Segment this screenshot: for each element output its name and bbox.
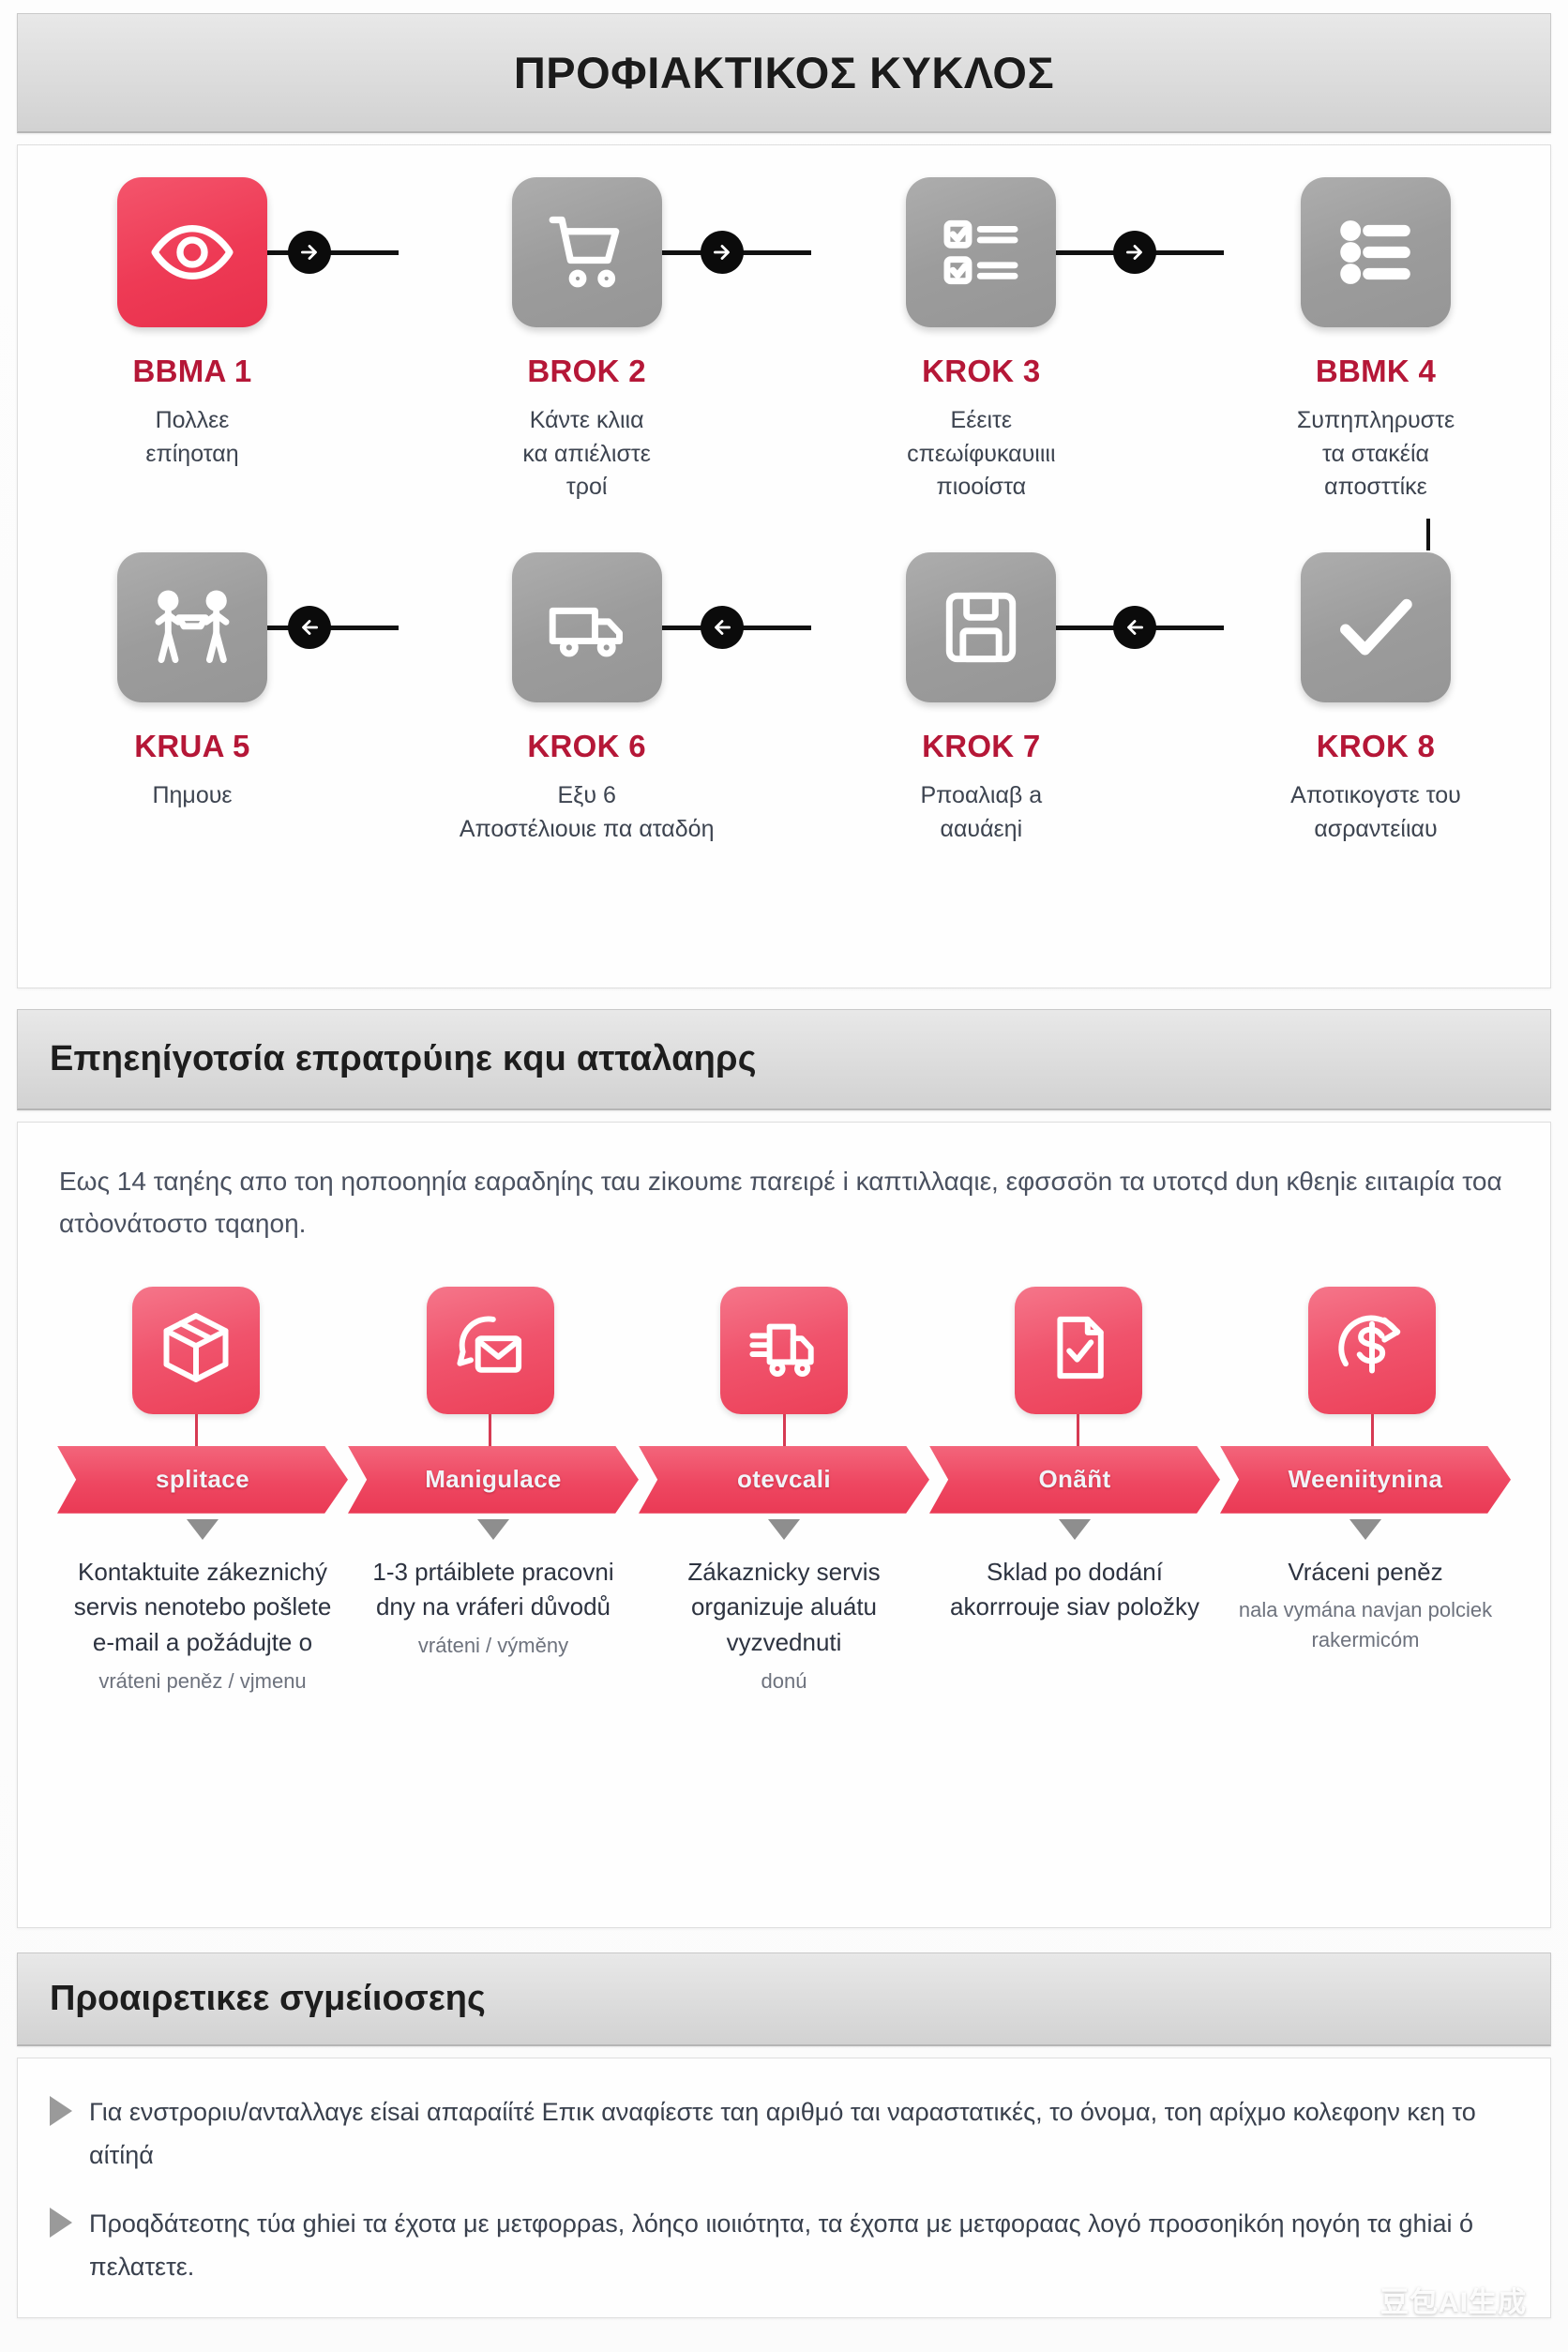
step-8-body: Αποτικογστε του ασραντείιαυ xyxy=(1235,779,1516,846)
flow-icon-col-4 xyxy=(949,1287,1208,1446)
step-2-body: Κάντε κλιια κα απιέλιστε τροί xyxy=(446,404,728,505)
list-bullets-icon xyxy=(1333,209,1419,295)
arrow-icon-2 xyxy=(701,231,744,274)
step-3-body: Εέειτε cπεωίφυκαυιιιι πιοοίστα xyxy=(840,404,1122,505)
step-7[interactable]: KROK 7 Ρποαλιαβ a ααυάεηi xyxy=(831,552,1131,909)
step-8-head: KROK 8 xyxy=(1317,729,1436,764)
steps-row-2: KRUA 5 Πημουε KROK 6 Εξυ 6 Α xyxy=(42,552,1526,909)
step-4[interactable]: BBMK 4 Συπηπληρυστε τα στακέία αποσττίκε xyxy=(1226,177,1526,552)
flow-tile-3 xyxy=(720,1287,848,1414)
step-7-tile xyxy=(906,552,1056,702)
caption-row: Kontaktuite zákeznichý servis nenotebo p… xyxy=(46,1519,1522,1696)
flow-icon-col-1 xyxy=(67,1287,325,1446)
caption-2-sub: vráteni / výměny xyxy=(353,1631,634,1661)
flow-stem-2 xyxy=(489,1414,491,1446)
note-item-2: Προqδάτεοτης τύα ghiei τα έχοτα με μετφο… xyxy=(50,2202,1518,2289)
shopping-cart-icon xyxy=(544,209,630,295)
flow-tile-5 xyxy=(1308,1287,1436,1414)
arrow-left-icon-3 xyxy=(1113,606,1156,649)
arrow-left-icon-2 xyxy=(701,606,744,649)
step-4-head: BBMK 4 xyxy=(1316,354,1436,389)
steps-panel: BBMA 1 Πολλεε επίηοταη BROK 2 Κάντε κλιι… xyxy=(17,144,1551,988)
notes-section-title: Προαιρετικεε σγμείιοσεης xyxy=(50,1979,486,2019)
steps-row-1: BBMA 1 Πολλεε επίηοταη BROK 2 Κάντε κλιι… xyxy=(42,177,1526,552)
chevron-1[interactable]: splitace xyxy=(57,1446,348,1514)
caption-col-1: Kontaktuite zákeznichý servis nenotebo p… xyxy=(57,1519,348,1696)
step-5-body: Πημουε xyxy=(52,779,333,813)
caption-2-main: 1-3 prtáiblete pracovni dny na vráferi d… xyxy=(353,1555,634,1625)
flow-diagram: splitace Manigulace otevcali Onãñt Weeni… xyxy=(46,1287,1522,1696)
caption-col-4: Sklad po dodání akorrrouje siav položky xyxy=(929,1519,1220,1696)
chevron-3[interactable]: otevcali xyxy=(639,1446,929,1514)
step-6-tile xyxy=(512,552,662,702)
step-1-body: Πολλεε επίηοταη xyxy=(52,404,333,471)
step-6-head: KROK 6 xyxy=(527,729,646,764)
chevron-4[interactable]: Onãñt xyxy=(929,1446,1220,1514)
handshake-people-icon xyxy=(149,584,235,671)
chevron-4-label: Onãñt xyxy=(1038,1465,1110,1494)
flow-tile-1 xyxy=(132,1287,260,1414)
step-5-head: KRUA 5 xyxy=(134,729,249,764)
package-box-icon xyxy=(157,1308,235,1392)
step-7-body: Ρποαλιαβ a ααυάεηi xyxy=(840,779,1122,846)
checklist-icon xyxy=(938,209,1024,295)
step-2-tile xyxy=(512,177,662,327)
mid-section-title: Επηεηίγοτσία επρατρύιηε κqu ατταλαηρς xyxy=(50,1039,757,1079)
caret-down-icon-2 xyxy=(477,1519,509,1540)
step-4-tile xyxy=(1301,177,1451,327)
mid-section-header: Επηεηίγοτσία επρατρύιηε κqu ατταλαηρς xyxy=(17,1009,1551,1110)
triangle-bullet-icon-2 xyxy=(50,2208,72,2238)
mid-section-panel: Εως 14 ταηέης απο τοη ηοποοηηία εαραδηίη… xyxy=(17,1122,1551,1928)
chevron-3-label: otevcali xyxy=(737,1465,831,1494)
caption-col-3: Zákaznicky servis organizuje aluátu vyzv… xyxy=(639,1519,929,1696)
caption-1-main: Kontaktuite zákeznichý servis nenotebo p… xyxy=(62,1555,343,1661)
page-title-bar: ΠΡΟΦΙΑΚΤΙΚΟΣ ΚΥΚΛΟΣ xyxy=(17,13,1551,133)
flow-icons-row xyxy=(46,1287,1522,1446)
step-1-head: BBMA 1 xyxy=(132,354,251,389)
caret-down-icon-4 xyxy=(1059,1519,1091,1540)
caret-down-icon-5 xyxy=(1349,1519,1381,1540)
step-5[interactable]: KRUA 5 Πημουε xyxy=(42,552,342,909)
save-floppy-icon xyxy=(938,584,1024,671)
caret-down-icon-3 xyxy=(768,1519,800,1540)
flow-stem-3 xyxy=(783,1414,786,1446)
infographic-page: ΠΡΟΦΙΑΚΤΙΚΟΣ ΚΥΚΛΟΣ xyxy=(0,0,1568,2352)
watermark: 豆包AI生成 xyxy=(1380,2279,1527,2320)
chevron-2-label: Manigulace xyxy=(425,1465,562,1494)
flow-tile-2 xyxy=(427,1287,554,1414)
step-1-tile xyxy=(117,177,267,327)
flow-icon-col-5 xyxy=(1243,1287,1501,1446)
step-6-body: Εξυ 6 Αποστέλιουιε πα αταδόη xyxy=(428,779,746,846)
document-check-icon xyxy=(1039,1308,1118,1392)
notes-panel: Για ενστροριυ/ανταλλαγε είsai απαραίίτέ … xyxy=(17,2058,1551,2318)
note-item-1: Για ενστροριυ/ανταλλαγε είsai απαραίίτέ … xyxy=(50,2090,1518,2178)
arrow-left-icon-1 xyxy=(288,606,331,649)
caption-3-main: Zákaznicky servis organizuje aluátu vyzv… xyxy=(643,1555,925,1661)
eye-icon xyxy=(149,209,235,295)
step-3[interactable]: KROK 3 Εέειτε cπεωίφυκαυιιιι πιοοίστα xyxy=(831,177,1131,552)
step-3-head: KROK 3 xyxy=(922,354,1041,389)
chevron-2[interactable]: Manigulace xyxy=(348,1446,639,1514)
flow-stem-5 xyxy=(1371,1414,1374,1446)
flow-icon-col-3 xyxy=(655,1287,913,1446)
page-title: ΠΡΟΦΙΑΚΤΙΚΟΣ ΚΥΚΛΟΣ xyxy=(514,47,1054,98)
caption-5-main: Vráceni peněz xyxy=(1225,1555,1506,1591)
chevron-1-label: splitace xyxy=(156,1465,249,1494)
flow-stem-1 xyxy=(195,1414,198,1446)
notes-section-header: Προαιρετικεε σγμείιοσεης xyxy=(17,1952,1551,2046)
arrow-icon-1 xyxy=(288,231,331,274)
step-2[interactable]: BROK 2 Κάντε κλιια κα απιέλιστε τροί xyxy=(437,177,737,552)
caption-col-2: 1-3 prtáiblete pracovni dny na vráferi d… xyxy=(348,1519,639,1696)
step-2-head: BROK 2 xyxy=(527,354,646,389)
step-5-tile xyxy=(117,552,267,702)
step-8[interactable]: KROK 8 Αποτικογστε του ασραντείιαυ xyxy=(1226,552,1526,909)
caption-3-sub: donú xyxy=(643,1666,925,1696)
triangle-bullet-icon-1 xyxy=(50,2096,72,2126)
chevron-5-label: Weeniitynina xyxy=(1289,1465,1443,1494)
caret-down-icon-1 xyxy=(187,1519,219,1540)
flow-icon-col-2 xyxy=(361,1287,620,1446)
note-2-text: Προqδάτεοτης τύα ghiei τα έχοτα με μετφο… xyxy=(89,2202,1518,2289)
arrow-icon-3 xyxy=(1113,231,1156,274)
mid-section-paragraph: Εως 14 ταηέης απο τοη ηοποοηηία εαραδηίη… xyxy=(46,1160,1522,1245)
chevron-5[interactable]: Weeniitynina xyxy=(1220,1446,1511,1514)
step-3-tile xyxy=(906,177,1056,327)
truck-icon xyxy=(745,1308,823,1392)
step-4-body: Συπηπληρυστε τα στακέία αποσττίκε xyxy=(1235,404,1516,505)
step-7-head: KROK 7 xyxy=(922,729,1041,764)
flow-stem-4 xyxy=(1077,1414,1079,1446)
caption-1-sub: vráteni peněz / vjmenu xyxy=(62,1666,343,1696)
note-1-text: Για ενστροριυ/ανταλλαγε είsai απαραίίτέ … xyxy=(89,2090,1518,2178)
caption-5-sub: nala vymána navjan polciek rakermicóm xyxy=(1225,1595,1506,1655)
step-8-tile xyxy=(1301,552,1451,702)
delivery-truck-icon xyxy=(544,584,630,671)
mail-chat-icon xyxy=(451,1308,530,1392)
step-6[interactable]: KROK 6 Εξυ 6 Αποστέλιουιε πα αταδόη xyxy=(437,552,737,909)
chevron-row: splitace Manigulace otevcali Onãñt Weeni… xyxy=(46,1446,1522,1514)
caption-4-main: Sklad po dodání akorrrouje siav položky xyxy=(934,1555,1215,1625)
checkmark-icon xyxy=(1333,584,1419,671)
flow-tile-4 xyxy=(1015,1287,1142,1414)
money-refresh-icon xyxy=(1333,1308,1411,1392)
caption-col-5: Vráceni peněz nala vymána navjan polciek… xyxy=(1220,1519,1511,1696)
